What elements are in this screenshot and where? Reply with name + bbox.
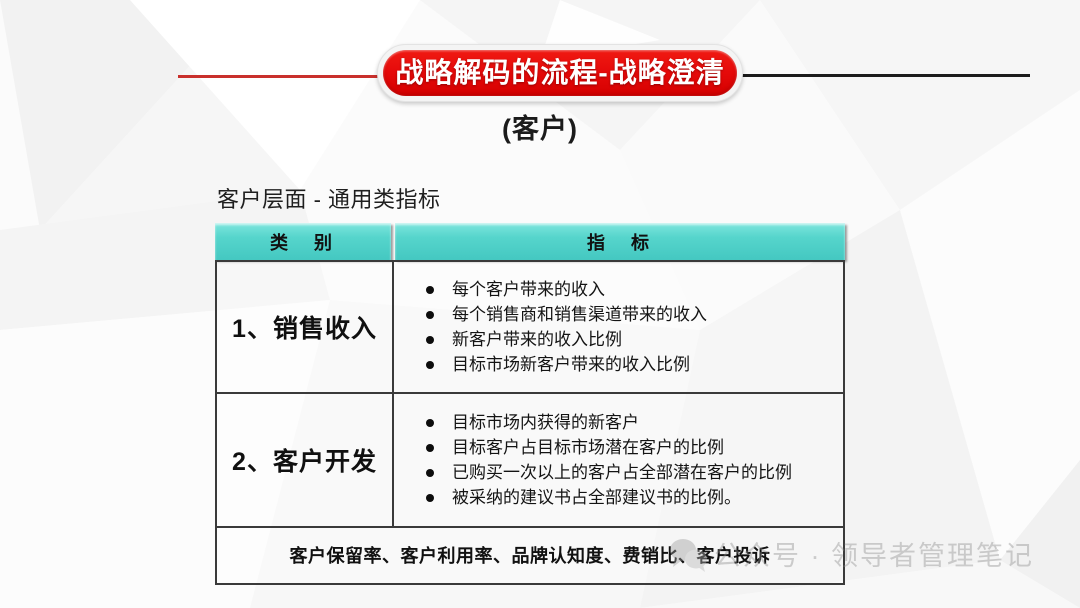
list-item: 被采纳的建议书占全部建议书的比例。 bbox=[426, 489, 843, 506]
slide-subtitle: (客户) bbox=[0, 107, 1080, 146]
indicators-table: 类 别 指 标 1、销售收入 每个客户带来的收入 每个销售商和销售渠道带来的收入… bbox=[215, 223, 845, 585]
list-item: 新客户带来的收入比例 bbox=[426, 331, 843, 348]
list-item: 已购买一次以上的客户占全部潜在客户的比例 bbox=[426, 464, 843, 481]
table-body: 1、销售收入 每个客户带来的收入 每个销售商和销售渠道带来的收入 新客户带来的收… bbox=[215, 260, 845, 585]
table-summary-row: 客户保留率、客户利用率、品牌认知度、费销比、客户投诉 bbox=[217, 528, 843, 581]
indicator-list: 每个客户带来的收入 每个销售商和销售渠道带来的收入 新客户带来的收入比例 目标市… bbox=[426, 273, 843, 381]
category-label: 1、销售收入 bbox=[232, 309, 377, 345]
indicator-list: 目标市场内获得的新客户 目标客户占目标市场潜在客户的比例 已购买一次以上的客户占… bbox=[426, 406, 843, 514]
table-row: 1、销售收入 每个客户带来的收入 每个销售商和销售渠道带来的收入 新客户带来的收… bbox=[217, 262, 843, 394]
page-title: 战略解码的流程-战略澄清 bbox=[395, 59, 724, 87]
section-caption: 客户层面 - 通用类指标 bbox=[217, 182, 441, 214]
table-cell-indicators: 每个客户带来的收入 每个销售商和销售渠道带来的收入 新客户带来的收入比例 目标市… bbox=[394, 262, 843, 392]
list-item: 目标市场新客户带来的收入比例 bbox=[426, 356, 843, 373]
category-label: 2、客户开发 bbox=[232, 442, 377, 478]
header-rule-right bbox=[740, 74, 1030, 77]
list-item: 每个客户带来的收入 bbox=[426, 281, 843, 298]
table-cell-category: 2、客户开发 bbox=[217, 394, 394, 526]
title-pill-body: 战略解码的流程-战略澄清 bbox=[383, 50, 737, 96]
list-item: 目标市场内获得的新客户 bbox=[426, 414, 843, 431]
slide-title-pill: 战略解码的流程-战略澄清 bbox=[377, 44, 743, 102]
table-header-category: 类 别 bbox=[215, 223, 391, 260]
list-item: 每个销售商和销售渠道带来的收入 bbox=[426, 306, 843, 323]
table-header-row: 类 别 指 标 bbox=[215, 223, 845, 260]
list-item: 目标客户占目标市场潜在客户的比例 bbox=[426, 439, 843, 456]
slide-canvas: 战略解码的流程-战略澄清 (客户) 客户层面 - 通用类指标 类 别 指 标 1… bbox=[0, 0, 1080, 608]
header-rule-left bbox=[178, 75, 378, 78]
table-cell-indicators: 目标市场内获得的新客户 目标客户占目标市场潜在客户的比例 已购买一次以上的客户占… bbox=[394, 394, 843, 526]
table-header-indicator: 指 标 bbox=[395, 223, 845, 260]
summary-label: 客户保留率、客户利用率、品牌认知度、费销比、客户投诉 bbox=[290, 542, 771, 568]
table-row: 2、客户开发 目标市场内获得的新客户 目标客户占目标市场潜在客户的比例 已购买一… bbox=[217, 394, 843, 528]
table-cell-summary: 客户保留率、客户利用率、品牌认知度、费销比、客户投诉 bbox=[217, 528, 843, 581]
table-cell-category: 1、销售收入 bbox=[217, 262, 394, 392]
